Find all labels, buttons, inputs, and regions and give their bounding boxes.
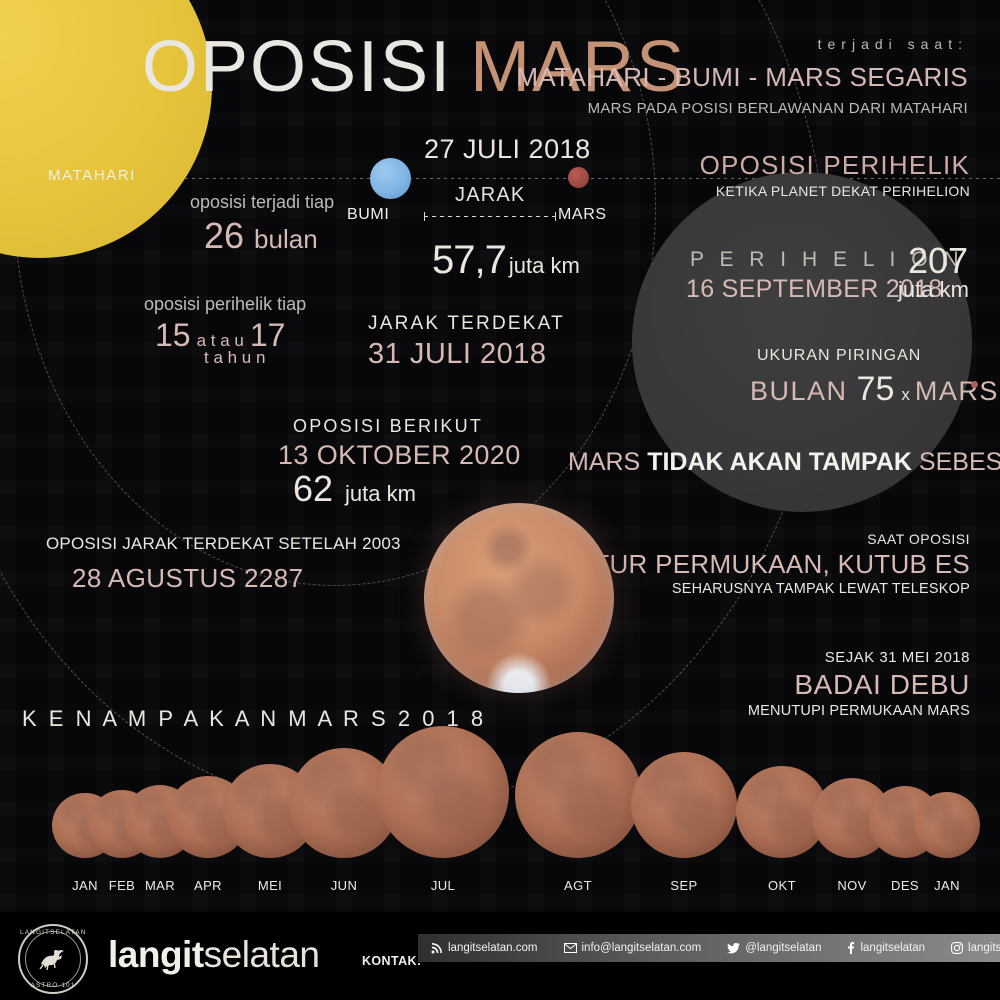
- footer-link-1[interactable]: info@langitselatan.com: [551, 942, 715, 954]
- infographic-poster: MATAHARI OPOSISIMARS terjadi saat: MATAH…: [0, 0, 1000, 1000]
- footer-link-text-4: langitselatanmedia: [968, 942, 1000, 954]
- footer-link-text-2: @langitselatan: [745, 942, 821, 954]
- earth-disc: [370, 158, 411, 199]
- footer-link-bar: langitselatan.cominfo@langitselatan.com@…: [418, 934, 1000, 962]
- size-factor: 75: [857, 370, 895, 408]
- next-opposition-date: 13 OKTOBER 2020: [278, 440, 521, 471]
- mars-disc-jul-6: [377, 726, 509, 858]
- instagram-icon: [951, 942, 963, 954]
- mars-word: MARS: [915, 376, 999, 406]
- disc-size-group: BULAN75xMARS: [750, 370, 999, 409]
- next-opposition-value: 62: [293, 468, 333, 509]
- dust-storm-headline: BADAI DEBU: [794, 669, 970, 701]
- brand-wordmark: langitselatan: [108, 934, 319, 976]
- mars-label: MARS: [558, 206, 607, 224]
- disc-size-lead: UKURAN PIRINGAN: [757, 347, 921, 365]
- next-opposition-distance-group: 62juta km: [293, 468, 416, 510]
- dust-storm-sub: MENUTUPI PERMUKAAN MARS: [748, 703, 970, 719]
- perihelic-years-a: 15: [155, 317, 191, 353]
- title-part-oposisi: OPOSISI: [142, 27, 452, 107]
- closest-after-2003-label: OPOSISI JARAK TERDEKAT SETELAH 2003: [46, 534, 401, 554]
- perihelic-subtitle: KETIKA PLANET DEKAT PERIHELION: [716, 183, 970, 199]
- header-headline: MATAHARI - BUMI - MARS SEGARIS: [516, 62, 968, 93]
- distance-value: 57,7: [432, 238, 506, 282]
- every-lead: oposisi terjadi tiap: [190, 192, 334, 213]
- next-opposition-label: OPOSISI BERIKUT: [293, 416, 483, 437]
- month-label-agt-7: AGT: [564, 878, 592, 893]
- month-label-des-11: DES: [891, 878, 919, 893]
- every-value-group: 26bulan: [204, 215, 318, 257]
- mars-disc-agt-7: [515, 732, 641, 858]
- month-label-feb-1: FEB: [109, 878, 135, 893]
- telescope-lead: SAAT OPOSISI: [867, 531, 970, 547]
- every-unit: bulan: [254, 224, 318, 254]
- footer-link-text-3: langitselatan: [860, 942, 925, 954]
- distance-unit: juta km: [509, 253, 580, 278]
- mars-disc-sep-8: [631, 752, 737, 858]
- perihelic-every-lead: oposisi perihelik tiap: [144, 294, 306, 315]
- moon-word: BULAN: [750, 376, 848, 406]
- header-kicker: terjadi saat:: [818, 36, 968, 52]
- brand-part-langit: langit: [108, 934, 204, 975]
- mars-size-dot: [971, 381, 978, 388]
- month-label-okt-9: OKT: [768, 878, 796, 893]
- facebook-icon: [847, 942, 855, 954]
- month-label-apr-3: APR: [194, 878, 222, 893]
- earth-label: BUMI: [347, 206, 389, 224]
- footer-link-0[interactable]: langitselatan.com: [418, 942, 551, 954]
- times-symbol: x: [901, 385, 910, 404]
- sun-label: MATAHARI: [48, 167, 136, 184]
- next-opposition-unit: juta km: [345, 481, 416, 506]
- month-label-jan-0: JAN: [72, 878, 98, 893]
- mars-globe-image: [424, 503, 614, 693]
- twitter-icon: [727, 943, 740, 954]
- distance-bracket: [424, 212, 556, 221]
- telescope-sub: SEHARUSNYA TAMPAK LEWAT TELESKOP: [672, 581, 970, 597]
- logo-bottom-text: ASTRO 101: [20, 982, 86, 989]
- perihelic-title: OPOSISI PERIHELIK: [700, 150, 970, 181]
- dust-storm-lead: SEJAK 31 MEI 2018: [825, 649, 970, 666]
- kontak-label: KONTAK:: [362, 954, 422, 968]
- mars-disc-jan-12: [914, 792, 980, 858]
- month-label-jan-12: JAN: [934, 878, 960, 893]
- month-label-mei-4: MEI: [258, 878, 282, 893]
- centaur-icon: [35, 940, 69, 974]
- month-label-nov-10: NOV: [837, 878, 866, 893]
- closest-after-2003-date: 28 AGUSTUS 2287: [72, 563, 303, 594]
- envelope-icon: [564, 943, 577, 953]
- footer-link-2[interactable]: @langitselatan: [714, 942, 834, 954]
- distance-label: JARAK: [455, 184, 525, 207]
- footer-link-text-0: langitselatan.com: [448, 942, 538, 954]
- closest-date: 31 JULI 2018: [368, 338, 547, 371]
- footer-link-3[interactable]: langitselatan: [834, 942, 938, 954]
- langitselatan-logo: LANGITSELATAN ASTRO 101: [18, 924, 88, 994]
- telescope-headline: FITUR PERMUKAAN, KUTUB ES: [570, 549, 970, 580]
- footer-link-4[interactable]: langitselatanmedia: [938, 942, 1000, 954]
- month-label-jun-5: JUN: [331, 878, 357, 893]
- rss-icon: [431, 942, 443, 954]
- month-label-sep-8: SEP: [670, 878, 697, 893]
- myth-part-c: SEBESAR BULAN: [912, 448, 1000, 476]
- myth-part-b: TIDAK AKAN TAMPAK: [647, 448, 912, 476]
- footer-link-text-1: info@langitselatan.com: [582, 942, 702, 954]
- brand-part-selatan: selatan: [204, 934, 320, 975]
- myth-line: MARS TIDAK AKAN TAMPAK SEBESAR BULAN: [568, 448, 1000, 477]
- myth-part-a: MARS: [568, 448, 647, 476]
- distance-value-group: 57,7juta km: [432, 238, 580, 283]
- every-value: 26: [204, 215, 244, 256]
- opposition-date: 27 JULI 2018: [424, 134, 591, 165]
- logo-top-text: LANGITSELATAN: [20, 929, 86, 936]
- month-label-mar-2: MAR: [145, 878, 175, 893]
- mars-dot: [568, 167, 589, 188]
- closest-label: JARAK TERDEKAT: [368, 313, 565, 335]
- header-subline: MARS PADA POSISI BERLAWANAN DARI MATAHAR…: [588, 100, 968, 117]
- perihelic-years-unit: t a h u n: [204, 348, 265, 368]
- appearance-heading: K E N A M P A K A N M A R S 2 0 1 8: [22, 706, 486, 732]
- month-label-jul-6: JUL: [431, 878, 455, 893]
- perihelion-unit: juta km: [898, 277, 969, 303]
